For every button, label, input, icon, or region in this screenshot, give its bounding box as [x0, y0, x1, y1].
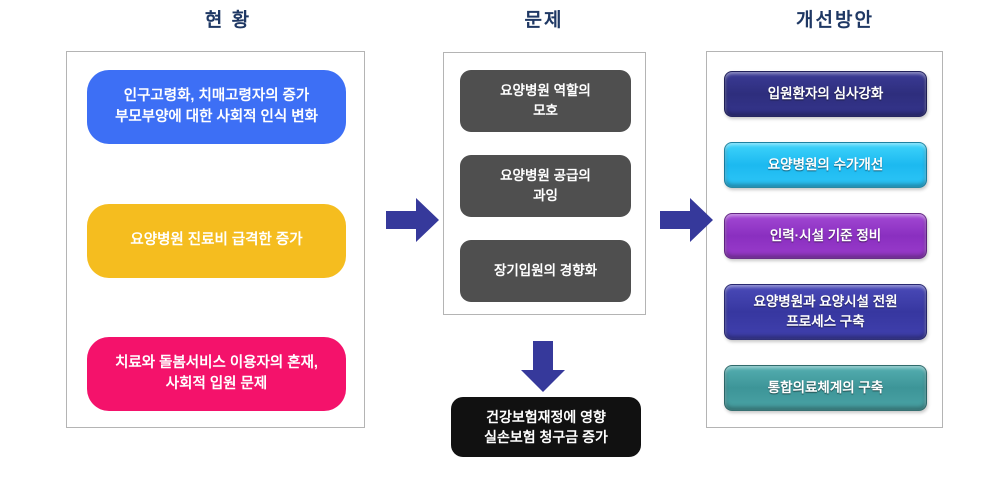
box-integrated-care-system-line1: 통합의료체계의 구축: [725, 378, 926, 398]
box-inpatient-review[interactable]: 입원환자의 심사강화: [724, 71, 927, 117]
box-staff-facility-standards-line1: 인력·시설 기준 정비: [725, 226, 926, 246]
box-mixed-users-line1: 치료와 돌봄서비스 이용자의 혼재,: [87, 353, 346, 374]
box-staff-facility-standards-text: 인력·시설 기준 정비: [725, 226, 926, 246]
box-treatment-cost[interactable]: 요양병원 진료비 급격한 증가: [87, 204, 346, 278]
box-insurance-impact-line1: 건강보험재정에 영향: [451, 407, 641, 427]
box-unclear-role-text: 요양병원 역할의 모호: [460, 81, 631, 120]
box-treatment-cost-text: 요양병원 진료비 급격한 증가: [87, 230, 346, 251]
box-long-term-stay-text: 장기입원의 경향화: [460, 261, 631, 281]
column-header-current: 현 황: [148, 5, 308, 32]
box-oversupply-line1: 요양병원 공급의: [460, 166, 631, 186]
box-fee-improvement-line1: 요양병원의 수가개선: [725, 155, 926, 175]
box-mixed-users-line2: 사회적 입원 문제: [87, 374, 346, 395]
box-insurance-impact-text: 건강보험재정에 영향 실손보험 청구금 증가: [451, 407, 641, 448]
box-transfer-process-line2: 프로세스 구축: [725, 312, 926, 332]
panel-solutions: 입원환자의 심사강화 요양병원의 수가개선 인력·시설 기준 정비 요양병원과 …: [706, 51, 943, 428]
box-treatment-cost-line1: 요양병원 진료비 급격한 증가: [87, 230, 346, 251]
box-fee-improvement-text: 요양병원의 수가개선: [725, 155, 926, 175]
box-unclear-role[interactable]: 요양병원 역할의 모호: [460, 70, 631, 132]
box-insurance-impact-line2: 실손보험 청구금 증가: [451, 427, 641, 447]
box-staff-facility-standards[interactable]: 인력·시설 기준 정비: [724, 213, 927, 259]
box-unclear-role-line2: 모호: [460, 101, 631, 121]
panel-problems: 요양병원 역할의 모호 요양병원 공급의 과잉 장기입원의 경향화: [443, 52, 646, 315]
box-fee-improvement[interactable]: 요양병원의 수가개선: [724, 142, 927, 188]
panel-current-status: 인구고령화, 치매고령자의 증가 부모부양에 대한 사회적 인식 변화 요양병원…: [66, 51, 365, 428]
box-population-aging[interactable]: 인구고령화, 치매고령자의 증가 부모부양에 대한 사회적 인식 변화: [87, 70, 346, 144]
column-header-problem: 문제: [484, 5, 604, 32]
box-transfer-process-line1: 요양병원과 요양시설 전원: [725, 292, 926, 312]
column-header-solution: 개선방안: [745, 5, 925, 32]
box-population-aging-line2: 부모부양에 대한 사회적 인식 변화: [87, 107, 346, 128]
box-long-term-stay-line1: 장기입원의 경향화: [460, 261, 631, 281]
box-transfer-process[interactable]: 요양병원과 요양시설 전원 프로세스 구축: [724, 284, 927, 340]
flow-diagram: 현 황 문제 개선방안 인구고령화, 치매고령자의 증가 부모부양에 대한 사회…: [0, 0, 1000, 489]
box-population-aging-line1: 인구고령화, 치매고령자의 증가: [87, 86, 346, 107]
box-integrated-care-system[interactable]: 통합의료체계의 구축: [724, 365, 927, 411]
box-mixed-users-text: 치료와 돌봄서비스 이용자의 혼재, 사회적 입원 문제: [87, 353, 346, 395]
box-population-aging-text: 인구고령화, 치매고령자의 증가 부모부양에 대한 사회적 인식 변화: [87, 86, 346, 128]
box-inpatient-review-text: 입원환자의 심사강화: [725, 84, 926, 104]
box-oversupply-line2: 과잉: [460, 186, 631, 206]
arrow-right-icon-current-to-problem: [386, 196, 440, 244]
arrow-right-icon-problem-to-solution: [660, 196, 714, 244]
box-oversupply-text: 요양병원 공급의 과잉: [460, 166, 631, 205]
box-unclear-role-line1: 요양병원 역할의: [460, 81, 631, 101]
box-long-term-stay[interactable]: 장기입원의 경향화: [460, 240, 631, 302]
box-mixed-users[interactable]: 치료와 돌봄서비스 이용자의 혼재, 사회적 입원 문제: [87, 337, 346, 411]
box-oversupply[interactable]: 요양병원 공급의 과잉: [460, 155, 631, 217]
box-inpatient-review-line1: 입원환자의 심사강화: [725, 84, 926, 104]
box-insurance-impact[interactable]: 건강보험재정에 영향 실손보험 청구금 증가: [451, 397, 641, 457]
box-integrated-care-system-text: 통합의료체계의 구축: [725, 378, 926, 398]
arrow-down-icon-problem-to-impact: [519, 341, 567, 393]
box-transfer-process-text: 요양병원과 요양시설 전원 프로세스 구축: [725, 292, 926, 331]
